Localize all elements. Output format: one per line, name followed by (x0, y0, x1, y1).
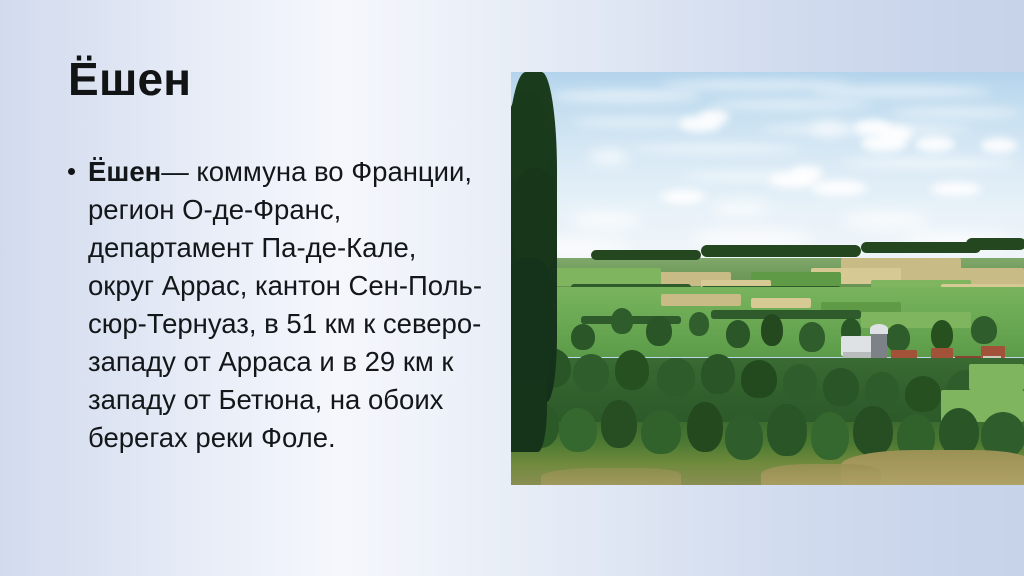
tree (741, 360, 777, 398)
cloud-wisp (631, 144, 801, 153)
cloud (879, 126, 913, 142)
dry-grass-patch (761, 464, 881, 485)
shrub (939, 408, 979, 456)
tree (761, 314, 783, 346)
dry-grass-patch (541, 468, 681, 485)
foreground-conifer-tree (511, 258, 553, 378)
bullet-dot-icon (68, 168, 75, 175)
bullet-lead-term: Ёшен (88, 156, 161, 187)
hedgerow (711, 310, 861, 319)
tree-line (591, 250, 701, 260)
cloud-wisp (841, 158, 1016, 168)
tree (701, 354, 735, 394)
shrub (687, 402, 723, 452)
foreground-conifer-tree (513, 168, 557, 268)
bullet-rest-text: — коммуна во Франции, регион О-де-Франс,… (88, 156, 482, 453)
harvested-field (751, 298, 811, 308)
pasture-field (969, 364, 1024, 390)
cloud (981, 138, 1017, 153)
cloud-wisp (811, 86, 991, 97)
tree (571, 324, 595, 350)
church-spire (870, 324, 888, 334)
cloud (931, 182, 981, 196)
shrub (601, 400, 637, 448)
cloud (811, 180, 867, 196)
tree (931, 320, 953, 350)
tree (905, 376, 941, 412)
cloud-wisp (551, 90, 701, 102)
cloud-wisp (891, 108, 1021, 117)
tree (646, 316, 672, 346)
shrub (641, 410, 681, 454)
list-item: Ёшен— коммуна во Франции, регион О-де-Фр… (68, 153, 488, 457)
shrub (767, 404, 807, 456)
tree (886, 324, 910, 352)
cloud (571, 212, 641, 228)
tree-line (861, 242, 981, 253)
tree (799, 322, 825, 352)
tree-line (701, 245, 861, 257)
body-text-block: Ёшен— коммуна во Франции, регион О-де-Фр… (68, 153, 488, 457)
cloud (699, 110, 729, 124)
cloud (711, 202, 771, 216)
cloud (915, 136, 955, 152)
village-landscape-photo (511, 72, 1024, 485)
tree (689, 312, 709, 336)
shrub (559, 408, 597, 452)
cloud-wisp (711, 100, 871, 109)
tree (971, 316, 997, 344)
shrub (811, 412, 849, 460)
shrub (725, 414, 763, 460)
presentation-slide: Ёшен Ёшен— коммуна во Франции, регион О-… (0, 0, 1024, 576)
tree (823, 368, 859, 406)
cloud (811, 122, 845, 135)
page-title: Ёшен (68, 55, 191, 103)
tree (657, 358, 695, 396)
tree-line (966, 238, 1024, 250)
shrub (853, 406, 893, 456)
tree (611, 308, 633, 334)
bullet-text: Ёшен— коммуна во Франции, регион О-де-Фр… (88, 153, 488, 457)
cloud (661, 190, 705, 204)
cloud (841, 212, 931, 228)
cloud (791, 166, 823, 180)
tree (726, 320, 750, 348)
cloud (589, 150, 629, 164)
tree (615, 350, 649, 390)
harvested-field (661, 294, 741, 306)
tree (865, 372, 899, 408)
tree (573, 354, 609, 392)
tree (783, 364, 817, 400)
